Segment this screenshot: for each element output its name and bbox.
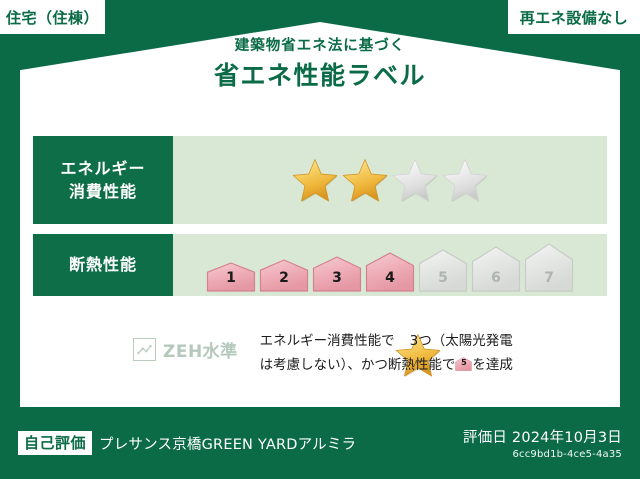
house-rating-scale: 1234567 — [206, 243, 574, 292]
house-step-6: 6 — [471, 246, 521, 292]
zeh-check-icon — [133, 338, 156, 361]
zeh-standard-label: ZEH水準 — [163, 337, 238, 362]
footer-left: 自己評価 プレサンス京橋GREEN YARDアルミラ — [18, 431, 463, 456]
self-evaluation-badge: 自己評価 — [18, 431, 92, 456]
zeh-note-section: ZEH水準 エネルギー消費性能で3つ（太陽光発電は考慮しない）、かつ断熱性能で5… — [33, 330, 607, 377]
house-step-5: 5 — [418, 249, 468, 292]
title-block: 建築物省エネ法に基づく 省エネ性能ラベル — [0, 38, 640, 91]
house-step-2: 2 — [259, 259, 309, 292]
rating-rows: エネルギー 消費性能 断熱性能 1234567 — [33, 136, 607, 306]
label-footer: 自己評価 プレサンス京橋GREEN YARDアルミラ 評価日 2024年10月3… — [0, 407, 640, 479]
row-insulation-performance: 断熱性能 1234567 — [33, 234, 607, 296]
label-subtitle: 建築物省エネ法に基づく — [0, 38, 640, 55]
row-energy-label-line1: エネルギー — [60, 157, 145, 180]
zeh-standard-block: ZEH水準 — [133, 337, 238, 362]
note-text-part4: を達成 — [472, 357, 513, 373]
row-insulation-label-line1: 断熱性能 — [69, 253, 137, 276]
house-step-3: 3 — [312, 256, 362, 292]
evaluation-date: 評価日 2024年10月3日 — [463, 426, 622, 447]
tag-building-type: 住宅（住棟） — [0, 0, 105, 34]
house-step-1: 1 — [206, 262, 256, 292]
row-energy-value — [173, 136, 607, 224]
house-step-7: 7 — [524, 243, 574, 292]
inline-star-icon — [395, 332, 410, 347]
footer-right: 評価日 2024年10月3日 6cc9bd1b-4ce5-4a35 — [463, 426, 622, 460]
note-text-part2: 3つ（太陽光発電 — [410, 333, 513, 349]
star-rating — [292, 157, 488, 203]
inline-house-badge: 5 — [455, 357, 472, 371]
row-energy-consumption: エネルギー 消費性能 — [33, 136, 607, 224]
zeh-criteria-text: エネルギー消費性能で3つ（太陽光発電は考慮しない）、かつ断熱性能で5を達成 — [260, 330, 607, 377]
note-text-part1: エネルギー消費性能で — [260, 333, 395, 349]
evaluation-id: 6cc9bd1b-4ce5-4a35 — [463, 449, 622, 460]
house-step-4: 4 — [365, 252, 415, 292]
page-title: 省エネ性能ラベル — [0, 61, 640, 91]
tag-renewable-energy: 再エネ設備なし — [508, 0, 640, 34]
row-energy-label-line2: 消費性能 — [69, 180, 137, 203]
energy-performance-label: 住宅（住棟） 再エネ設備なし 建築物省エネ法に基づく 省エネ性能ラベル エネルギ… — [0, 0, 640, 479]
row-energy-label: エネルギー 消費性能 — [33, 136, 173, 224]
row-insulation-value: 1234567 — [173, 234, 607, 296]
building-name: プレサンス京橋GREEN YARDアルミラ — [99, 433, 356, 454]
note-text-part3: は考慮しない）、かつ断熱性能で — [260, 357, 456, 373]
inline-house-step: 5 — [455, 357, 472, 371]
row-insulation-label: 断熱性能 — [33, 234, 173, 296]
